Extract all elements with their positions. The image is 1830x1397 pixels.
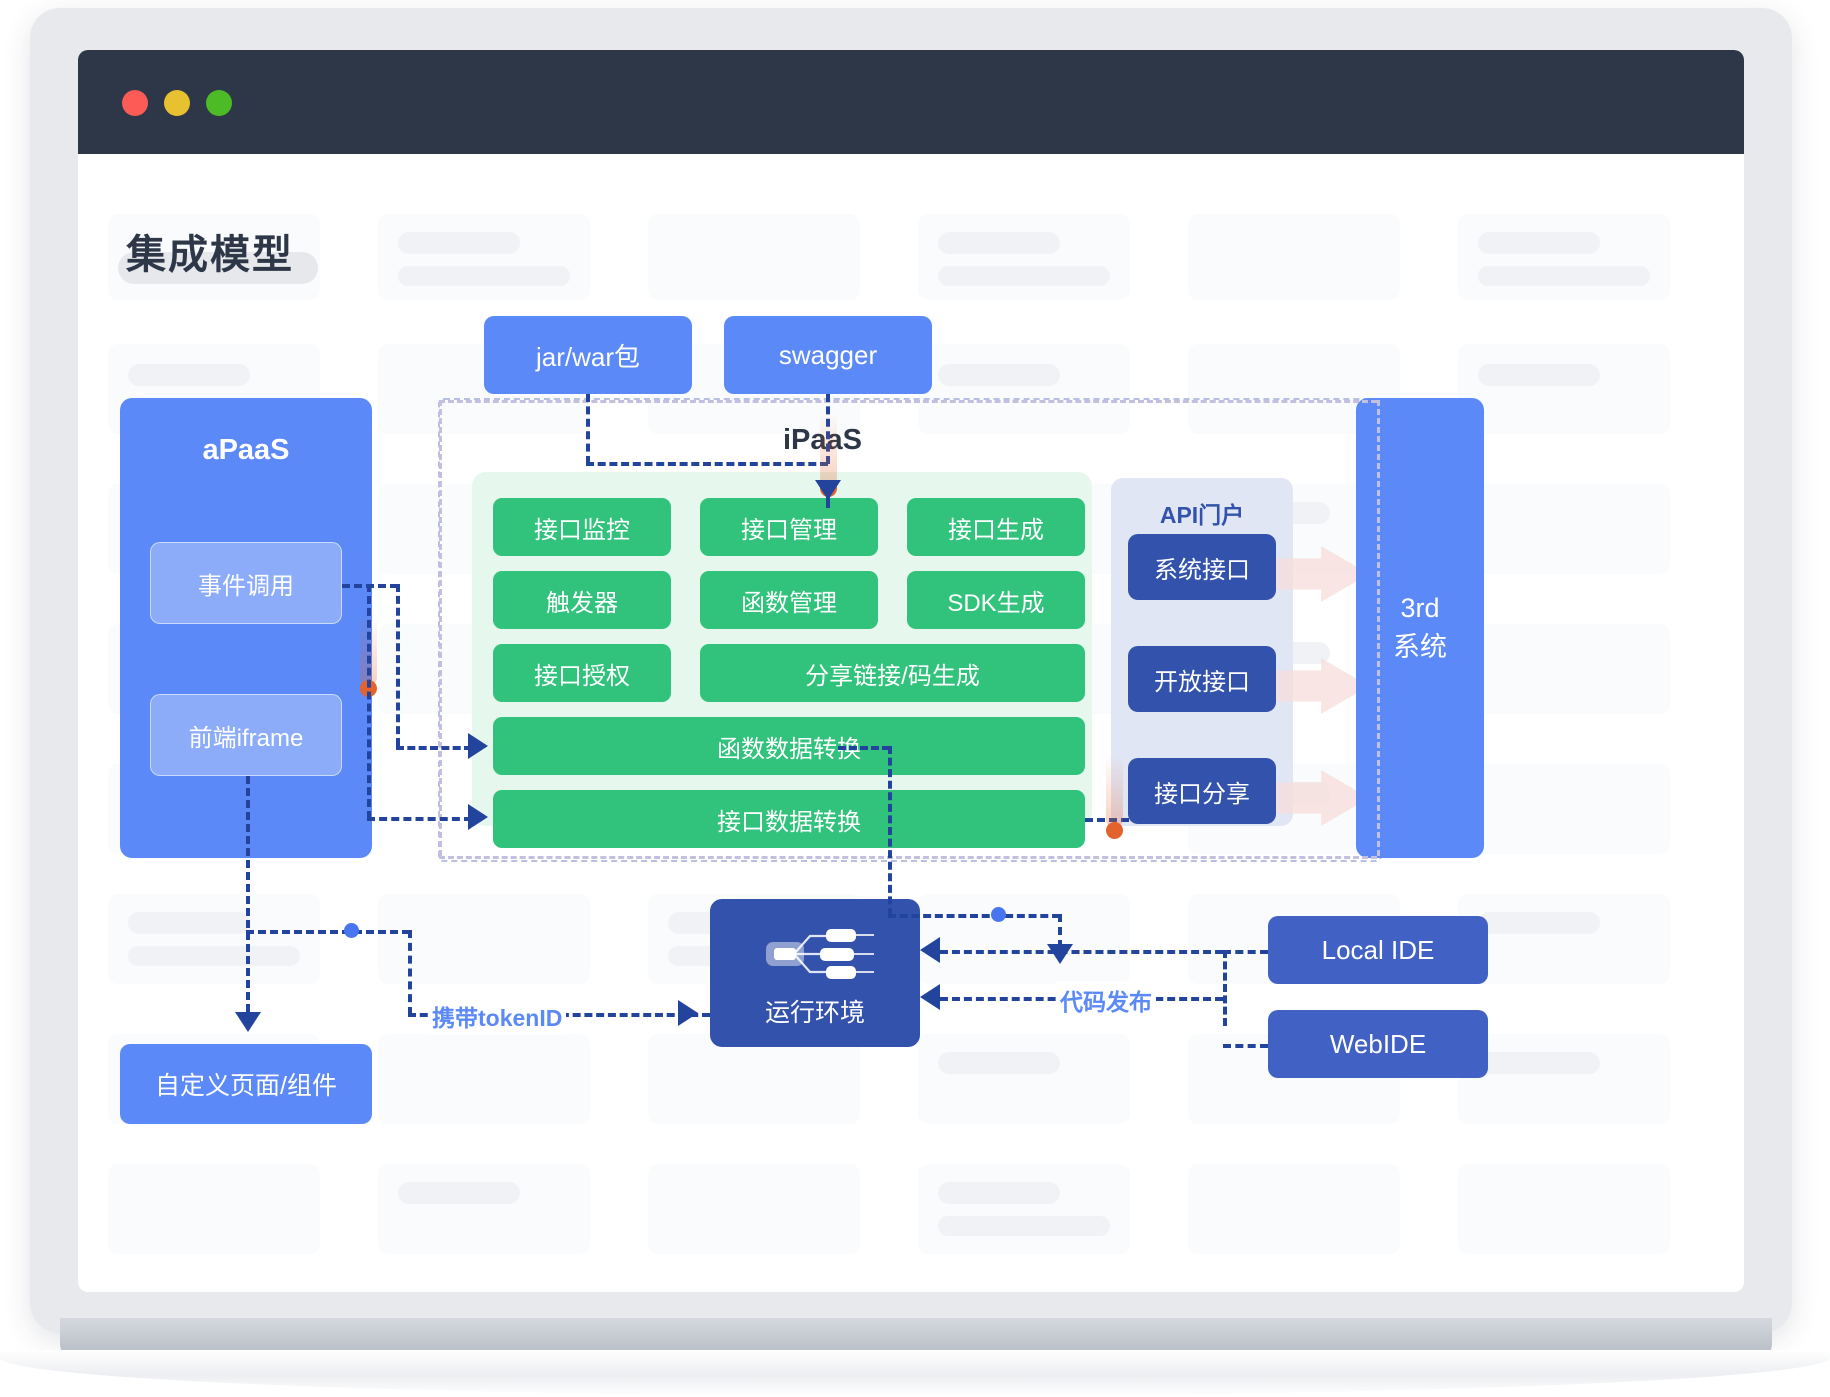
capability-label: 接口授权 bbox=[534, 656, 630, 691]
runtime-environment-label: 运行环境 bbox=[710, 993, 920, 1029]
flow-label-token: 携带tokenID bbox=[428, 997, 566, 1035]
skeleton-card bbox=[1458, 484, 1670, 574]
capability-label: 接口管理 bbox=[741, 510, 837, 545]
arrowhead-right-icon bbox=[468, 733, 488, 759]
connector-event-call-down bbox=[396, 584, 400, 746]
skeleton-bar bbox=[938, 1182, 1060, 1204]
browser-window: 集成模型 jar/war包 swagger iPaaS aPaaS 事件调用 前… bbox=[78, 50, 1744, 1292]
skeleton-card bbox=[1188, 1164, 1400, 1254]
apaas-item-event-call-label: 事件调用 bbox=[198, 566, 294, 601]
connector-event-branch-in bbox=[367, 817, 472, 821]
skeleton-card bbox=[648, 1034, 860, 1124]
capability-interface-data-transform[interactable]: 接口数据转换 bbox=[493, 790, 1085, 848]
arrowhead-down-icon bbox=[815, 480, 841, 500]
minimize-traffic-light[interactable] bbox=[164, 90, 190, 116]
skeleton-card bbox=[1458, 764, 1670, 854]
skeleton-bar bbox=[128, 912, 250, 934]
connector-token-down bbox=[408, 930, 412, 1015]
skeleton-card bbox=[1458, 1164, 1670, 1254]
connector-func-transform-down bbox=[888, 746, 892, 916]
capability-interface-generation[interactable]: 接口生成 bbox=[907, 498, 1085, 556]
skeleton-bar bbox=[398, 232, 520, 254]
arrowhead-left-icon bbox=[920, 937, 940, 963]
marker-dot bbox=[1106, 822, 1123, 839]
skeleton-card bbox=[378, 1034, 590, 1124]
connector-iframe-right bbox=[246, 930, 410, 934]
skeleton-bar bbox=[1478, 364, 1600, 386]
third-party-line1: 3rd bbox=[1400, 589, 1439, 628]
skeleton-card bbox=[378, 1164, 590, 1254]
runtime-environment-box[interactable]: 运行环境 bbox=[710, 899, 920, 1047]
capability-label: 接口生成 bbox=[948, 510, 1044, 545]
capability-interface-authorization[interactable]: 接口授权 bbox=[493, 644, 671, 702]
ide-web-box[interactable]: WebIDE bbox=[1268, 1010, 1488, 1078]
skeleton-bar bbox=[128, 946, 300, 966]
custom-page-component-box[interactable]: 自定义页面/组件 bbox=[120, 1044, 372, 1124]
page-title: 集成模型 bbox=[126, 222, 294, 280]
connector-junction-dot bbox=[991, 907, 1006, 922]
ipaas-guide bbox=[1377, 400, 1380, 856]
gateway-item-label: 系统接口 bbox=[1154, 550, 1250, 585]
skeleton-card bbox=[378, 214, 590, 300]
capability-label: 接口监控 bbox=[534, 510, 630, 545]
apaas-item-frontend-iframe-label: 前端iframe bbox=[189, 718, 304, 753]
gateway-item-open-interface[interactable]: 开放接口 bbox=[1128, 646, 1276, 712]
skeleton-bar bbox=[938, 364, 1060, 386]
connector-iframe-down bbox=[246, 776, 250, 1012]
skeleton-card bbox=[918, 1164, 1130, 1254]
skeleton-bar bbox=[398, 1182, 520, 1204]
skeleton-card bbox=[108, 1164, 320, 1254]
third-party-system-box[interactable]: 3rd 系统 bbox=[1356, 398, 1484, 858]
ipaas-guide bbox=[439, 400, 442, 856]
skeleton-card bbox=[1458, 894, 1670, 984]
capability-trigger[interactable]: 触发器 bbox=[493, 571, 671, 629]
apaas-item-frontend-iframe[interactable]: 前端iframe bbox=[150, 694, 342, 776]
connector-event-call-in bbox=[396, 746, 472, 750]
skeleton-card bbox=[1458, 1034, 1670, 1124]
skeleton-card bbox=[918, 214, 1130, 300]
connector-event-branch-down bbox=[367, 584, 371, 819]
connector-func-transform-out bbox=[838, 746, 890, 750]
diagram-canvas: 集成模型 jar/war包 swagger iPaaS aPaaS 事件调用 前… bbox=[78, 154, 1744, 1292]
skeleton-bar bbox=[938, 1216, 1110, 1236]
capability-label: SDK生成 bbox=[947, 583, 1044, 618]
skeleton-card bbox=[108, 894, 320, 984]
skeleton-card bbox=[918, 1034, 1130, 1124]
arrowhead-right-icon bbox=[678, 1000, 698, 1026]
marker-glow bbox=[1106, 754, 1123, 828]
capability-label: 接口数据转换 bbox=[717, 802, 861, 837]
skeleton-bar bbox=[128, 364, 250, 386]
ide-local-label: Local IDE bbox=[1322, 935, 1435, 966]
ide-web-label: WebIDE bbox=[1330, 1029, 1426, 1060]
capability-sdk-generation[interactable]: SDK生成 bbox=[907, 571, 1085, 629]
capability-interface-monitor[interactable]: 接口监控 bbox=[493, 498, 671, 556]
connector-ide-vertical bbox=[1223, 950, 1227, 1026]
capability-interface-management[interactable]: 接口管理 bbox=[700, 498, 878, 556]
skeleton-card bbox=[1458, 214, 1670, 300]
connector-func-transform-right bbox=[888, 914, 1060, 918]
apaas-item-event-call[interactable]: 事件调用 bbox=[150, 542, 342, 624]
skeleton-card bbox=[1188, 214, 1400, 300]
arrowhead-down-icon bbox=[1047, 944, 1073, 964]
capability-function-data-transform[interactable]: 函数数据转换 bbox=[493, 717, 1085, 775]
source-swagger-label: swagger bbox=[779, 340, 877, 371]
api-gateway-title: API门户 bbox=[1111, 496, 1293, 530]
capability-share-link-code-generation[interactable]: 分享链接/码生成 bbox=[700, 644, 1085, 702]
connector-junction-dot bbox=[344, 923, 359, 938]
flow-label-publish: 代码发布 bbox=[1056, 981, 1156, 1019]
connector-gateway-down bbox=[1058, 914, 1062, 948]
source-swagger-box[interactable]: swagger bbox=[724, 316, 932, 394]
skeleton-bar bbox=[1478, 232, 1600, 254]
skeleton-card bbox=[918, 894, 1130, 984]
gateway-item-system-interface[interactable]: 系统接口 bbox=[1128, 534, 1276, 600]
custom-page-component-label: 自定义页面/组件 bbox=[155, 1066, 337, 1102]
connector-jarwar-down bbox=[586, 394, 590, 464]
connector-local-ide-left bbox=[1223, 950, 1268, 954]
skeleton-card bbox=[648, 1164, 860, 1254]
arrowhead-down-icon bbox=[235, 1012, 261, 1032]
ipaas-guide bbox=[439, 856, 1377, 859]
maximize-traffic-light[interactable] bbox=[206, 90, 232, 116]
arrowhead-right-icon bbox=[468, 804, 488, 830]
skeleton-bar bbox=[1478, 1052, 1600, 1074]
ide-local-box[interactable]: Local IDE bbox=[1268, 916, 1488, 984]
gateway-item-interface-share[interactable]: 接口分享 bbox=[1128, 758, 1276, 824]
capability-label: 分享链接/码生成 bbox=[805, 656, 980, 691]
connector-web-ide-left bbox=[1223, 1044, 1268, 1048]
capability-label: 触发器 bbox=[546, 583, 618, 618]
close-traffic-light[interactable] bbox=[122, 90, 148, 116]
skeleton-bar bbox=[938, 232, 1060, 254]
skeleton-bar bbox=[1478, 266, 1650, 286]
gateway-item-label: 开放接口 bbox=[1154, 662, 1250, 697]
apaas-title: aPaaS bbox=[120, 434, 372, 467]
skeleton-bar bbox=[398, 266, 570, 286]
browser-titlebar bbox=[78, 50, 1744, 154]
skeleton-bar bbox=[1478, 912, 1600, 934]
skeleton-bar bbox=[938, 266, 1110, 286]
ipaas-guide bbox=[439, 400, 1377, 403]
arrowhead-left-icon bbox=[920, 984, 940, 1010]
third-party-line2: 系统 bbox=[1393, 628, 1447, 667]
skeleton-card bbox=[1458, 344, 1670, 434]
skeleton-bar bbox=[938, 1052, 1060, 1074]
capability-label: 函数管理 bbox=[741, 583, 837, 618]
marker-glow bbox=[820, 412, 837, 486]
source-jar-war-box[interactable]: jar/war包 bbox=[484, 316, 692, 394]
capability-function-management[interactable]: 函数管理 bbox=[700, 571, 878, 629]
node-tree-icon bbox=[762, 923, 877, 985]
gateway-item-label: 接口分享 bbox=[1154, 774, 1250, 809]
device-frame: 集成模型 jar/war包 swagger iPaaS aPaaS 事件调用 前… bbox=[30, 8, 1792, 1333]
connector-jarwar-right bbox=[586, 462, 828, 466]
connector-publish-top bbox=[940, 950, 1223, 954]
skeleton-card bbox=[648, 214, 860, 300]
skeleton-card bbox=[1458, 624, 1670, 714]
source-jar-war-label: jar/war包 bbox=[536, 337, 640, 374]
device-stand-base bbox=[0, 1350, 1830, 1396]
